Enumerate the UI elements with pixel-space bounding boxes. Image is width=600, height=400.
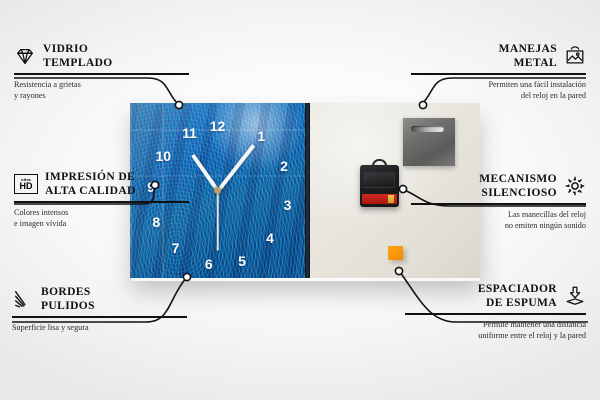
battery-label [362,194,397,204]
clock-numeral: 12 [210,119,226,133]
feature-mecanismo-silencioso: MECANISMO SILENCIOSO Las manecillas del … [411,172,586,231]
feature-title-2: TEMPLADO [43,56,113,70]
feature-title-2: DE ESPUMA [478,296,557,310]
clock-numeral: 4 [266,231,274,245]
feature-sub: Resistencia a grietas [14,79,189,90]
clock-numeral: 2 [280,159,288,173]
foam-spacer-icon [564,285,586,307]
gear-icon [564,175,586,197]
clock-numeral: 11 [182,126,197,140]
feature-sub: Las manecillas del reloj [411,209,586,220]
mechanism-detail [364,172,395,188]
divider [12,316,187,318]
hd-icon-big-label: HD [20,182,33,191]
feature-title: IMPRESIÓN DE [45,170,136,184]
metal-hanger-plate [403,118,455,166]
feature-impresion-alta-calidad: ultra HD IMPRESIÓN DE ALTA CALIDAD Color… [14,170,189,229]
clock-numeral: 7 [172,241,180,255]
clock-numeral: 6 [205,257,213,271]
feature-sub-2: e imagen vívida [14,218,189,229]
ultra-hd-icon: ultra HD [14,174,38,194]
feature-title: BORDES [41,285,95,299]
hanger-slot [411,126,444,132]
feature-title: ESPACIADOR [478,282,557,296]
foam-spacer [388,246,403,260]
feature-sub-2: del reloj en la pared [411,90,586,101]
mechanism-hook [372,159,387,168]
clock-numeral: 5 [238,254,246,268]
feature-sub-2: uniforme entre el reloj y la pared [405,330,586,341]
polished-edges-icon [12,288,34,310]
second-hand [217,191,219,251]
feature-title: VIDRIO [43,42,113,56]
divider [14,73,189,75]
divider [411,73,586,75]
hanging-frame-icon [564,45,586,67]
feature-title-2: SILENCIOSO [479,186,557,200]
feature-manejas-metal: MANEJAS METAL Permiten una fácil instala… [411,42,586,101]
feature-title-2: METAL [499,56,557,70]
infographic-canvas: 12 1 2 3 4 5 6 7 8 9 10 11 [0,0,600,400]
clock-numeral: 10 [155,149,171,163]
quartz-mechanism [360,165,399,207]
feature-title: MECANISMO [479,172,557,186]
clock-numeral: 1 [257,129,265,143]
feature-vidrio-templado: VIDRIO TEMPLADO Resistencia a grietas y … [14,42,189,101]
feature-espaciador-espuma: ESPACIADOR DE ESPUMA Permite mantener un… [405,282,586,341]
feature-sub: Permiten una fácil instalación [411,79,586,90]
clock-numeral: 3 [284,198,292,212]
hands-pin [214,187,221,194]
feature-sub: Permite mantener una distancia [405,319,586,330]
feature-sub-2: y rayones [14,90,189,101]
divider [411,203,586,205]
feature-sub: Colores intensos [14,207,189,218]
divider [405,313,586,315]
feature-title: MANEJAS [499,42,557,56]
feature-sub: Superficie lisa y segura [12,322,187,333]
feature-sub-2: no emiten ningún sonido [411,220,586,231]
feature-title-2: ALTA CALIDAD [45,184,136,198]
divider [14,201,189,203]
feature-bordes-pulidos: BORDES PULIDOS Superficie lisa y segura [12,285,187,333]
feature-title-2: PULIDOS [41,299,95,313]
diamond-icon [14,45,36,67]
